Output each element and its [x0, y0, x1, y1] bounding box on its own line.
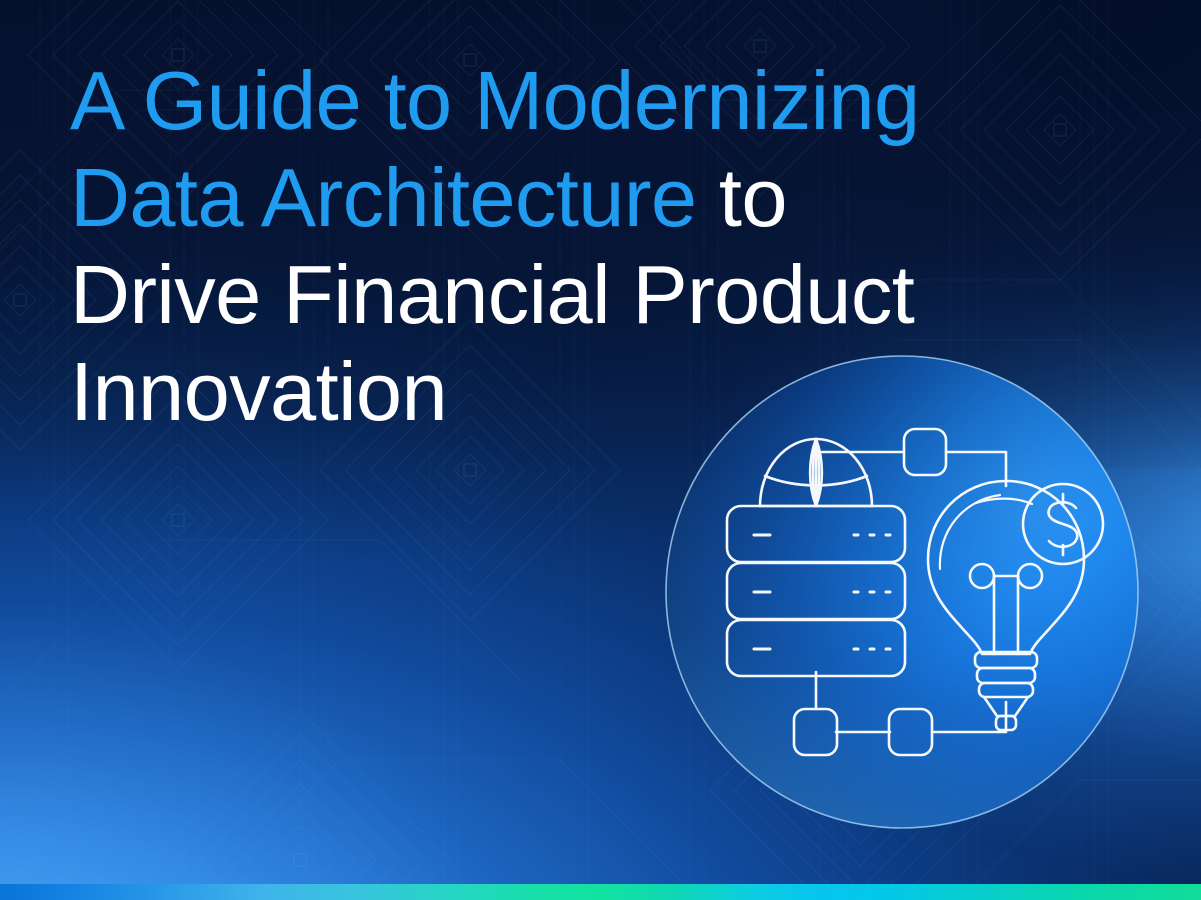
- page-title: A Guide to Modernizing Data Architecture…: [70, 52, 1070, 440]
- title-line-1-accent: A Guide to Modernizing: [70, 54, 920, 147]
- title-line-4-plain: Innovation: [70, 345, 447, 438]
- title-line-2-accent: Data Architecture: [70, 151, 696, 244]
- title-line-2-plain: to: [696, 151, 786, 244]
- title-line-2: Data Architecture to: [70, 149, 1070, 246]
- brand-accent-bar: [0, 884, 1201, 900]
- title-line-3: Drive Financial Product: [70, 246, 1070, 343]
- title-line-4: Innovation: [70, 343, 1070, 440]
- title-line-3-plain: Drive Financial Product: [70, 248, 914, 341]
- title-line-1: A Guide to Modernizing: [70, 52, 1070, 149]
